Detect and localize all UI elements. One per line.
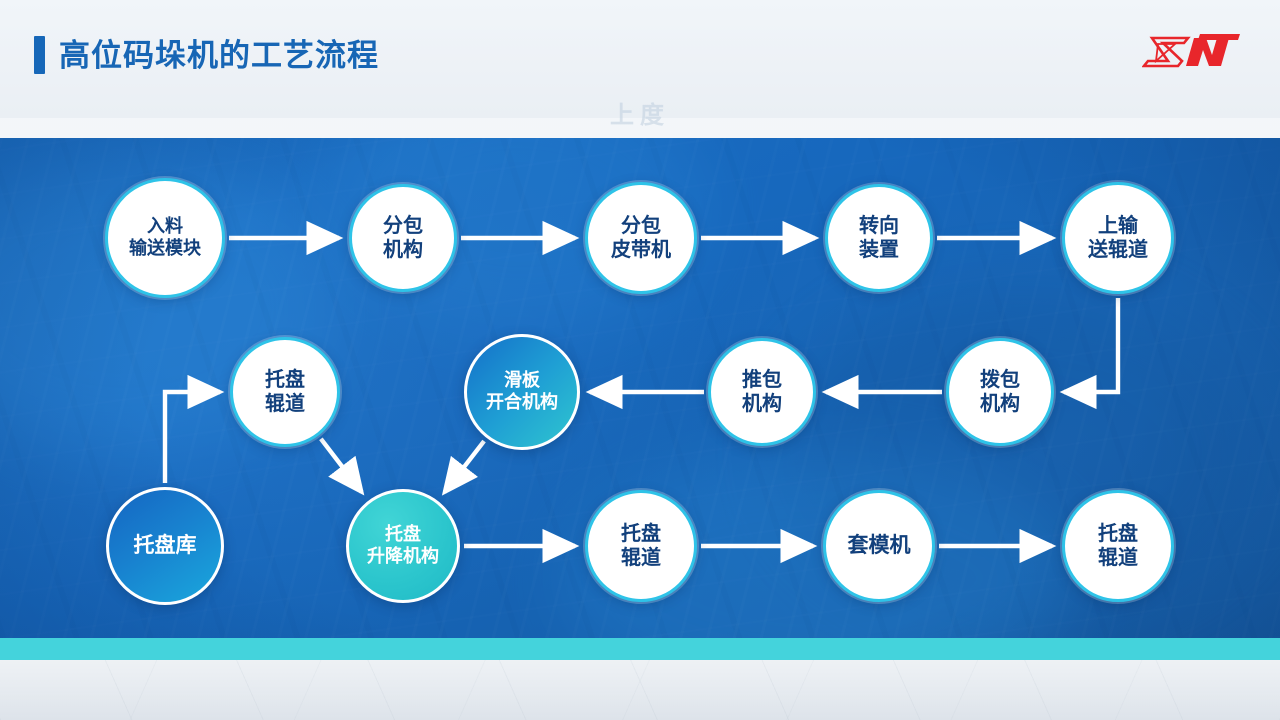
flow-node-label: 分包 — [383, 214, 423, 238]
flow-node-n12[interactable]: 托盘辊道 — [585, 490, 697, 602]
page-title: 高位码垛机的工艺流程 — [34, 36, 379, 74]
flow-node-label: 转向 — [859, 214, 899, 238]
flow-node-n13[interactable]: 套模机 — [823, 490, 935, 602]
flow-node-label: 托盘 — [265, 368, 305, 392]
flow-node-n04[interactable]: 转向装置 — [825, 184, 933, 292]
footer-texture — [0, 660, 1280, 720]
flow-node-label: 入料 — [147, 216, 183, 238]
company-logo-icon — [1142, 28, 1244, 76]
flow-node-label: 机构 — [980, 392, 1020, 416]
flow-node-n03[interactable]: 分包皮带机 — [585, 182, 697, 294]
flow-node-label: 滑板 — [504, 370, 540, 392]
flow-node-label: 皮带机 — [611, 238, 671, 262]
flow-node-label: 装置 — [859, 238, 899, 262]
flow-node-label: 套模机 — [848, 533, 911, 559]
flow-node-label: 推包 — [742, 368, 782, 392]
title-accent-bar — [34, 36, 45, 74]
flow-node-label: 辊道 — [265, 392, 305, 416]
flow-node-label: 辊道 — [621, 546, 661, 570]
flow-node-label: 托盘 — [385, 524, 421, 546]
flow-node-n08[interactable]: 滑板开合机构 — [464, 334, 580, 450]
flow-node-label: 辊道 — [1098, 546, 1138, 570]
flow-node-label: 上输 — [1098, 214, 1138, 238]
flow-node-label: 机构 — [742, 392, 782, 416]
flow-node-label: 机构 — [383, 238, 423, 262]
flow-node-n10[interactable]: 托盘库 — [106, 487, 224, 605]
flow-node-label: 拨包 — [980, 368, 1020, 392]
flow-node-label: 输送模块 — [129, 238, 201, 260]
flow-node-label: 开合机构 — [486, 392, 558, 414]
flow-node-label: 托盘 — [621, 522, 661, 546]
flow-node-n11[interactable]: 托盘升降机构 — [346, 489, 460, 603]
flow-node-n06[interactable]: 拨包机构 — [946, 338, 1054, 446]
flow-node-n01[interactable]: 入料输送模块 — [105, 178, 225, 298]
flow-node-n14[interactable]: 托盘辊道 — [1062, 490, 1174, 602]
flow-panel: 入料输送模块分包机构分包皮带机转向装置上输送辊道拨包机构推包机构滑板开合机构托盘… — [0, 138, 1280, 638]
flow-node-n05[interactable]: 上输送辊道 — [1062, 182, 1174, 294]
flow-node-label: 送辊道 — [1088, 238, 1148, 262]
slide-header: 高位码垛机的工艺流程 — [0, 0, 1280, 118]
accent-bar-cyan — [0, 638, 1280, 660]
page-title-text: 高位码垛机的工艺流程 — [59, 40, 379, 71]
flow-node-label: 托盘 — [1098, 522, 1138, 546]
flow-node-label: 托盘库 — [134, 533, 197, 559]
flow-node-label: 分包 — [621, 214, 661, 238]
flow-node-n02[interactable]: 分包机构 — [349, 184, 457, 292]
flow-node-n09[interactable]: 托盘辊道 — [230, 337, 340, 447]
flow-node-label: 升降机构 — [367, 546, 439, 568]
slide-footer — [0, 660, 1280, 720]
flow-node-n07[interactable]: 推包机构 — [708, 338, 816, 446]
slide-root: 高位码垛机的工艺流程 上度 — [0, 0, 1280, 720]
